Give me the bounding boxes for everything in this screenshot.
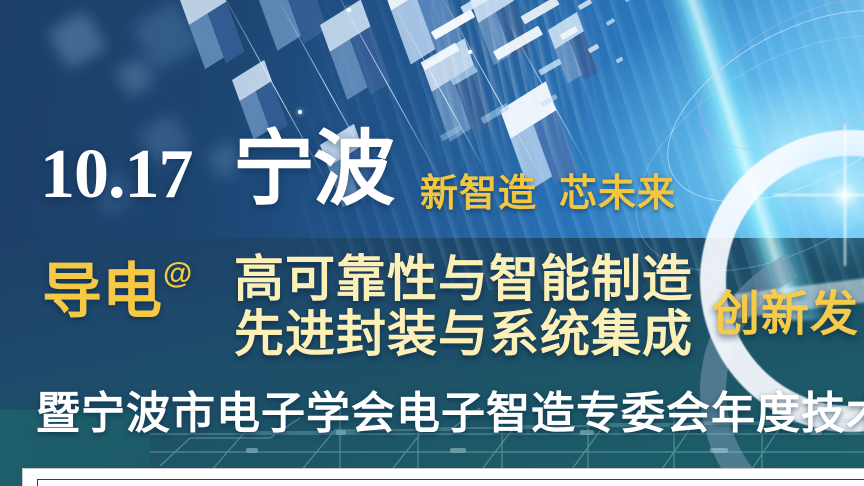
orbit-ring-violet-icon [676,0,864,182]
starburst-glow-icon [760,110,864,280]
content-panel [22,468,864,486]
headline-line-1: 高可靠性与智能制造 [234,252,693,307]
side-gold-text: 创新发 [712,291,859,339]
slogan-part-1: 新智造 [420,173,537,215]
brand-name: 导电@ [42,262,191,322]
brand-text: 导电 [42,258,162,325]
slogan-part-2: 芯未来 [559,173,676,215]
event-subline: 暨宁波市电子学会电子智造专委会年度技术交 [36,392,864,436]
event-banner-poster: 10.17 宁波 新智造芯未来 导电@ 高可靠性与智能制造 先进封装与系统集成 … [0,0,864,486]
headline-line-2: 先进封装与系统集成 [234,307,693,362]
event-city: 宁波 [233,129,393,211]
at-symbol-icon: @ [163,257,192,290]
event-date: 10.17 [40,140,193,210]
content-panel-inner [37,479,864,486]
event-headline: 高可靠性与智能制造 先进封装与系统集成 [234,252,693,362]
event-slogan: 新智造芯未来 [420,175,676,213]
